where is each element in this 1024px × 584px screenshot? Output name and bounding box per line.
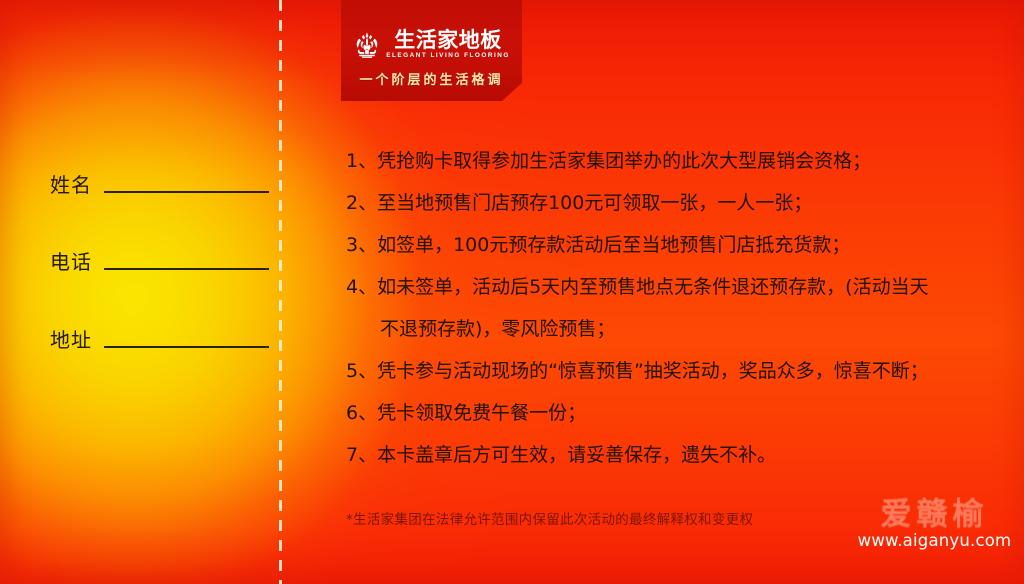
brand-name-cn: 生活家地板 [394,30,502,51]
field-name-label: 姓名 [50,175,92,195]
legal-footnote: *生活家集团在法律允许范围内保留此次活动的最终解释权和变更权 [346,508,753,528]
field-phone-input-line[interactable] [104,268,269,270]
term-item: 5、 凭卡参与活动现场的“惊喜预售”抽奖活动，奖品众多，惊喜不断； [346,362,986,381]
brand-tagline: 一个阶层的生活格调 [359,69,503,88]
field-address[interactable]: 地址 [50,330,269,350]
field-phone-label: 电话 [50,252,92,272]
watermark-calligraphy: 爱赣榆 [852,498,1017,531]
watermark-url: www.aiganyu.com [852,532,1017,550]
term-text-continuation: 不退预存款)，零风险预售； [346,320,986,339]
field-address-input-line[interactable] [104,346,269,348]
term-number: 1、 [346,152,377,171]
card-stub: 姓名 电话 地址 [0,0,279,584]
term-text: 至当地预售门店预存100元可领取一张，一人一张； [377,194,812,213]
term-item: 3、 如签单，100元预存款活动后至当地预售门店抵充货款； [346,236,986,255]
term-number: 6、 [346,404,377,423]
field-address-label: 地址 [50,330,92,350]
term-number: 5、 [346,362,377,381]
heraldic-crest-icon [353,32,381,59]
term-number: 4、 [346,278,377,297]
field-name-input-line[interactable] [104,191,269,193]
term-text: 如签单，100元预存款活动后至当地预售门店抵充货款； [377,236,850,255]
perforation-dashed-line [279,0,282,584]
term-number: 7、 [346,446,377,465]
coupon-card: 生活家地板 ELEGANT LIVING FLOORING 一个阶层的生活格调 … [0,0,1024,584]
term-text: 凭抢购卡取得参加生活家集团举办的此次大型展销会资格； [377,152,871,171]
field-phone[interactable]: 电话 [50,252,269,272]
term-text: 如未签单，活动后5天内至预售地点无条件退还预存款，(活动当天 [377,278,929,297]
term-text: 凭卡领取免费午餐一份； [377,404,586,423]
terms-list: 1、 凭抢购卡取得参加生活家集团举办的此次大型展销会资格； 2、 至当地预售门店… [346,152,986,488]
term-number: 3、 [346,236,377,255]
term-item: 7、 本卡盖章后方可生效，请妥善保存，遗失不补。 [346,446,986,465]
term-item: 2、 至当地预售门店预存100元可领取一张，一人一张； [346,194,986,213]
term-text: 凭卡参与活动现场的“惊喜预售”抽奖活动，奖品众多，惊喜不断； [377,362,929,381]
field-name[interactable]: 姓名 [50,175,269,195]
term-text: 本卡盖章后方可生效，请妥善保存，遗失不补。 [377,446,776,465]
brand-logo-block: 生活家地板 ELEGANT LIVING FLOORING 一个阶层的生活格调 [341,0,522,101]
term-item: 4、 如未签单，活动后5天内至预售地点无条件退还预存款，(活动当天 [346,278,986,297]
term-number: 2、 [346,194,377,213]
term-item: 6、 凭卡领取免费午餐一份； [346,404,986,423]
term-item: 1、 凭抢购卡取得参加生活家集团举办的此次大型展销会资格； [346,152,986,171]
site-watermark: 爱赣榆 www.aiganyu.com [852,498,1017,550]
brand-name-en: ELEGANT LIVING FLOORING [386,53,510,59]
